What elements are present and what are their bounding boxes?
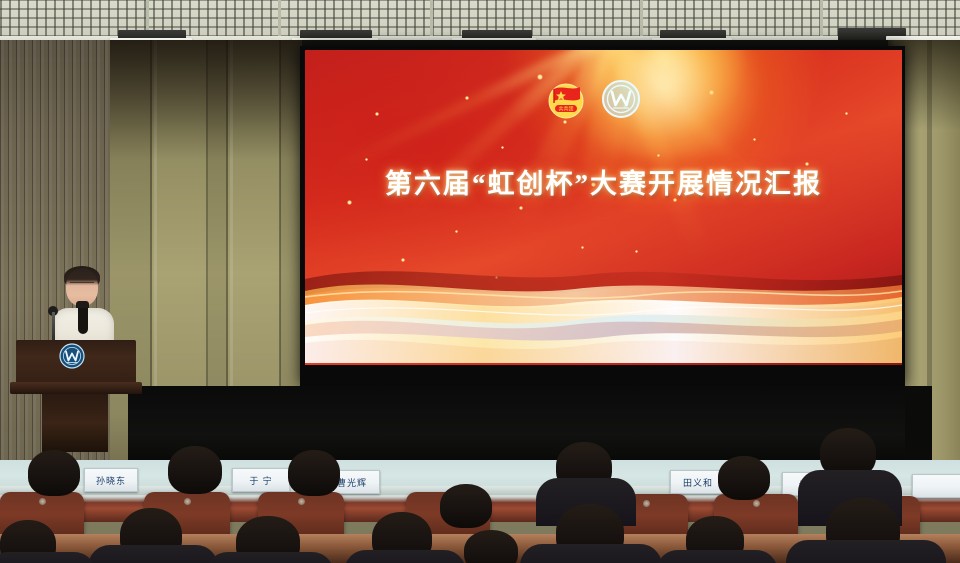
- sparkle-particle: [375, 112, 379, 116]
- speaker-lapel: [78, 308, 88, 334]
- sparkle-particle: [519, 206, 523, 210]
- placard-text: 曹光辉: [337, 476, 367, 489]
- audience-person-shoulders: [786, 540, 946, 563]
- name-placard: [912, 474, 960, 498]
- university-seal-logo: [58, 342, 86, 370]
- audience-person-shoulders: [206, 552, 334, 563]
- screen-title: 第六届“虹创杯”大赛开展情况汇报: [305, 162, 902, 201]
- communist-youth-league-emblem: 共青团: [545, 79, 587, 119]
- university-seal-logo: [600, 78, 642, 120]
- name-placard: 于 宁: [232, 468, 290, 492]
- name-placard: 孙晓东: [84, 468, 138, 492]
- audience-person-head: [718, 456, 770, 500]
- wall-top-shadow: [110, 40, 302, 160]
- glasses-icon: [70, 282, 94, 288]
- sparkle-particle: [365, 158, 368, 161]
- sparkle-particle: [753, 138, 756, 141]
- audience-person-shoulders: [0, 552, 96, 563]
- sparkle-particle: [455, 230, 458, 233]
- placard-text: 孙晓东: [96, 474, 126, 487]
- placard-text: 田义和: [683, 476, 713, 489]
- audience-person-head: [288, 450, 340, 496]
- audience-person-shoulders: [520, 544, 662, 563]
- podium: [16, 340, 136, 452]
- wave-graphic: [305, 245, 902, 365]
- sparkle-particle: [465, 96, 469, 100]
- audience-person-shoulders: [656, 550, 778, 563]
- audience-person-shoulders: [88, 545, 218, 563]
- sparkle-particle: [563, 120, 567, 124]
- podium-top: [16, 340, 136, 386]
- stage-skirt: [128, 386, 905, 468]
- sparkle-particle: [845, 112, 848, 115]
- sparkle-particle: [501, 146, 504, 149]
- microphone-stem: [52, 312, 55, 342]
- svg-text:共青团: 共青团: [558, 106, 573, 113]
- podium-base: [42, 394, 108, 452]
- audience-person-shoulders: [344, 550, 466, 563]
- podium-cap: [10, 382, 142, 394]
- audience-person-head: [168, 446, 222, 494]
- audience-person-head: [464, 530, 518, 563]
- audience-person-head: [440, 484, 492, 528]
- stage-skirt-right: [905, 386, 932, 468]
- sparkle-particle: [537, 74, 543, 80]
- audience-person-head: [28, 450, 80, 496]
- placard-text: 于 宁: [249, 474, 272, 487]
- auditorium-scene: 共青团 第六届“虹创杯”大赛开展情况汇报: [0, 0, 960, 563]
